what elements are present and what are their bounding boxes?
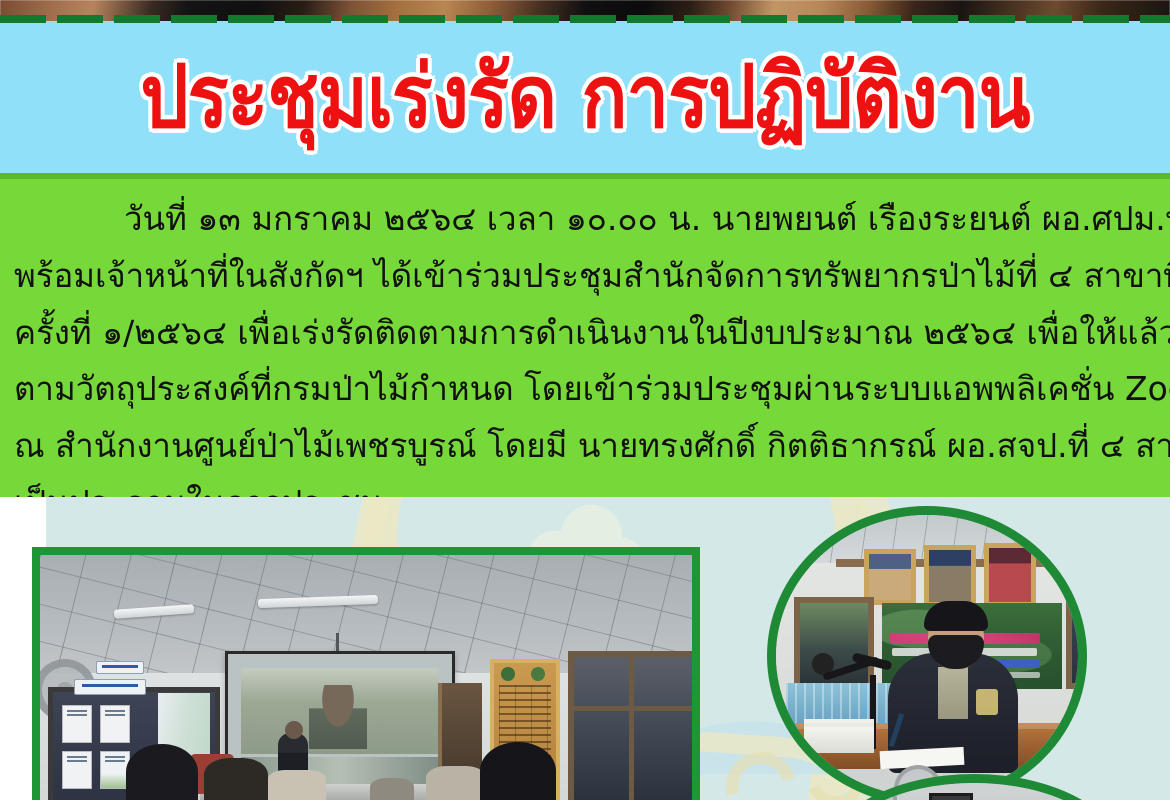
partial-photo-object	[929, 793, 973, 800]
body-line-5: ณ สำนักงานศูนย์ป่าไม้เพชรบูรณ์ โดยมี นาย…	[14, 418, 1156, 475]
photo-board-seal	[501, 667, 515, 681]
green-dashed-divider	[0, 15, 1170, 23]
body-line-6: เป็นประธานในการประชุม	[14, 475, 1156, 497]
photo-attendee	[426, 766, 486, 800]
body-line-1: วันที่ ๑๓ มกราคม ๒๕๖๔ เวลา ๑๐.๐๐ น. นายพ…	[14, 191, 1156, 248]
document-stack	[804, 727, 874, 753]
page-title: ประชุมเร่งรัด การปฏิบัติงาน	[140, 52, 1029, 143]
photo-wall-sign	[96, 661, 144, 674]
photo-attendee	[204, 758, 268, 800]
royal-portrait	[924, 545, 976, 607]
body-paragraph: วันที่ ๑๓ มกราคม ๒๕๖๔ เวลา ๑๐.๐๐ น. นายพ…	[0, 173, 1170, 497]
photo-attendee	[370, 778, 414, 800]
photo-attendee	[480, 742, 556, 800]
body-line-4: ตามวัตถุประสงค์ที่กรมป่าไม้กำหนด โดยเข้า…	[14, 361, 1156, 418]
royal-portrait	[984, 543, 1036, 607]
photo-attendee	[126, 744, 198, 800]
chairman-hair	[924, 601, 988, 631]
chairman-badge-icon	[976, 689, 998, 715]
poster-body: วันที่ ๑๓ มกราคม ๒๕๖๔ เวลา ๑๐.๐๐ น. นายพ…	[0, 173, 1170, 497]
body-line-2: พร้อมเจ้าหน้าที่ในสังกัดฯ ได้เข้าร่วมประ…	[14, 248, 1156, 305]
photo-wall-sign	[74, 679, 146, 695]
photo-attendee	[268, 770, 326, 800]
photo-screen-hanger	[336, 633, 339, 653]
meeting-room-photo	[32, 547, 700, 800]
poster-header: ประชุมเร่งรัด การปฏิบัติงาน	[0, 21, 1170, 173]
body-line-3: ครั้งที่ ๑/๒๕๖๔ เพื่อเร่งรัดติดตามการดำเ…	[14, 305, 1156, 362]
chairman-shirt	[938, 667, 968, 719]
chairman-oval-photo	[767, 506, 1087, 800]
